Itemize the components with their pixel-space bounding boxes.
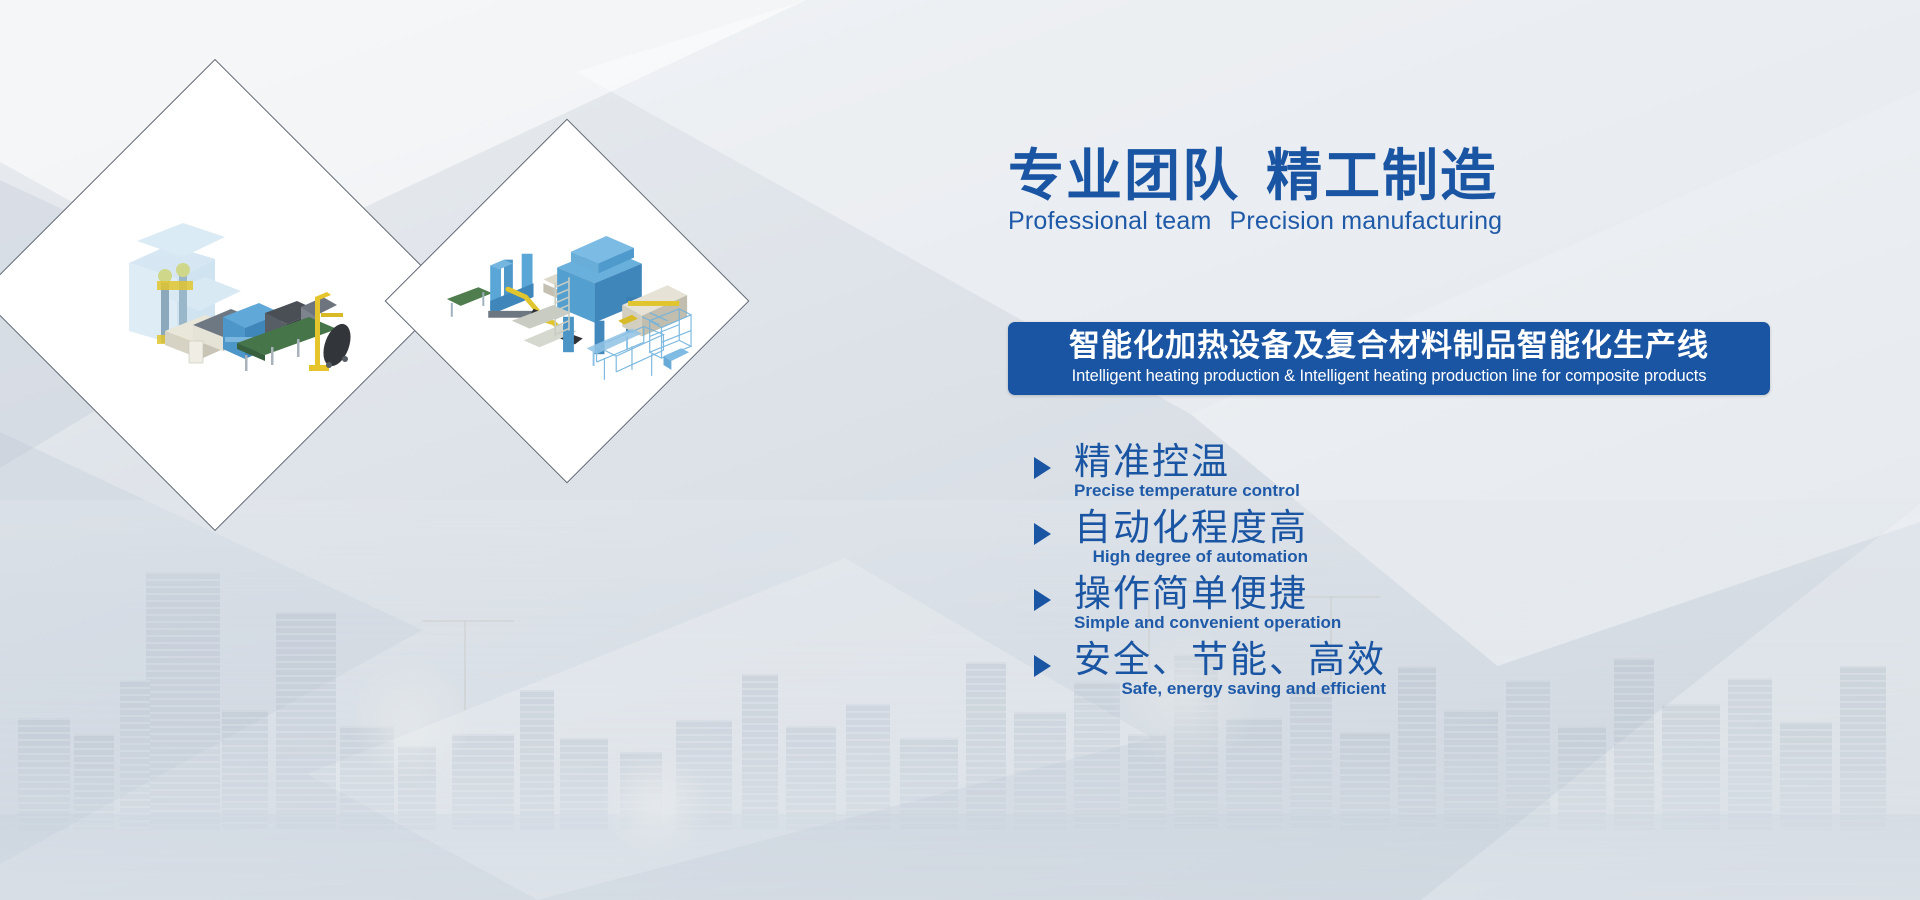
headline-chinese-left: 专业团队 bbox=[1008, 144, 1240, 207]
triangle-bullet-icon bbox=[1034, 655, 1051, 677]
triangle-bullet-icon bbox=[1034, 523, 1051, 545]
banner-chinese-title: 智能化加热设备及复合材料制品智能化生产线 bbox=[1022, 329, 1756, 364]
headline-english: Professional teamPrecision manufacturing bbox=[1008, 207, 1798, 236]
triangle-bullet-icon bbox=[1034, 589, 1051, 611]
feature-item: 操作简单便捷 Simple and convenient operation bbox=[1034, 574, 1554, 640]
feature-chinese-label: 精准控温 bbox=[1074, 442, 1300, 483]
feature-english-label: Safe, energy saving and efficient bbox=[1074, 679, 1386, 699]
feature-texts: 自动化程度高 High degree of automation bbox=[1074, 508, 1308, 566]
product-banner: 智能化加热设备及复合材料制品智能化生产线 Intelligent heating… bbox=[1008, 322, 1770, 395]
feature-texts: 操作简单便捷 Simple and convenient operation bbox=[1074, 574, 1341, 632]
feature-texts: 精准控温 Precise temperature control bbox=[1074, 442, 1300, 500]
feature-english-label: Precise temperature control bbox=[1074, 481, 1300, 501]
feature-texts: 安全、节能、高效 Safe, energy saving and efficie… bbox=[1074, 640, 1386, 698]
feature-chinese-label: 自动化程度高 bbox=[1074, 508, 1308, 549]
feature-item: 安全、节能、高效 Safe, energy saving and efficie… bbox=[1034, 640, 1554, 706]
triangle-bullet-icon bbox=[1034, 457, 1051, 479]
feature-list: 精准控温 Precise temperature control 自动化程度高 … bbox=[1034, 442, 1554, 706]
banner-stage: 专业团队精工制造 Professional teamPrecision manu… bbox=[0, 0, 1920, 900]
right-machine-illustration bbox=[439, 171, 695, 431]
feature-item: 精准控温 Precise temperature control bbox=[1034, 442, 1554, 508]
headline-english-left: Professional team bbox=[1008, 207, 1212, 235]
headline-chinese: 专业团队精工制造 bbox=[1008, 146, 1798, 205]
feature-english-label: Simple and convenient operation bbox=[1074, 613, 1341, 633]
feature-chinese-label: 安全、节能、高效 bbox=[1074, 640, 1386, 681]
text-content-column: 专业团队精工制造 Professional teamPrecision manu… bbox=[1008, 0, 1798, 900]
feature-chinese-label: 操作简单便捷 bbox=[1074, 574, 1341, 615]
headline-chinese-right: 精工制造 bbox=[1266, 144, 1498, 207]
banner-english-subtitle: Intelligent heating production & Intelli… bbox=[1022, 366, 1756, 387]
feature-english-label: High degree of automation bbox=[1074, 547, 1308, 567]
headline-block: 专业团队精工制造 Professional teamPrecision manu… bbox=[1008, 146, 1798, 236]
headline-english-right: Precision manufacturing bbox=[1230, 207, 1503, 235]
feature-item: 自动化程度高 High degree of automation bbox=[1034, 508, 1554, 574]
left-machine-illustration bbox=[65, 145, 365, 445]
